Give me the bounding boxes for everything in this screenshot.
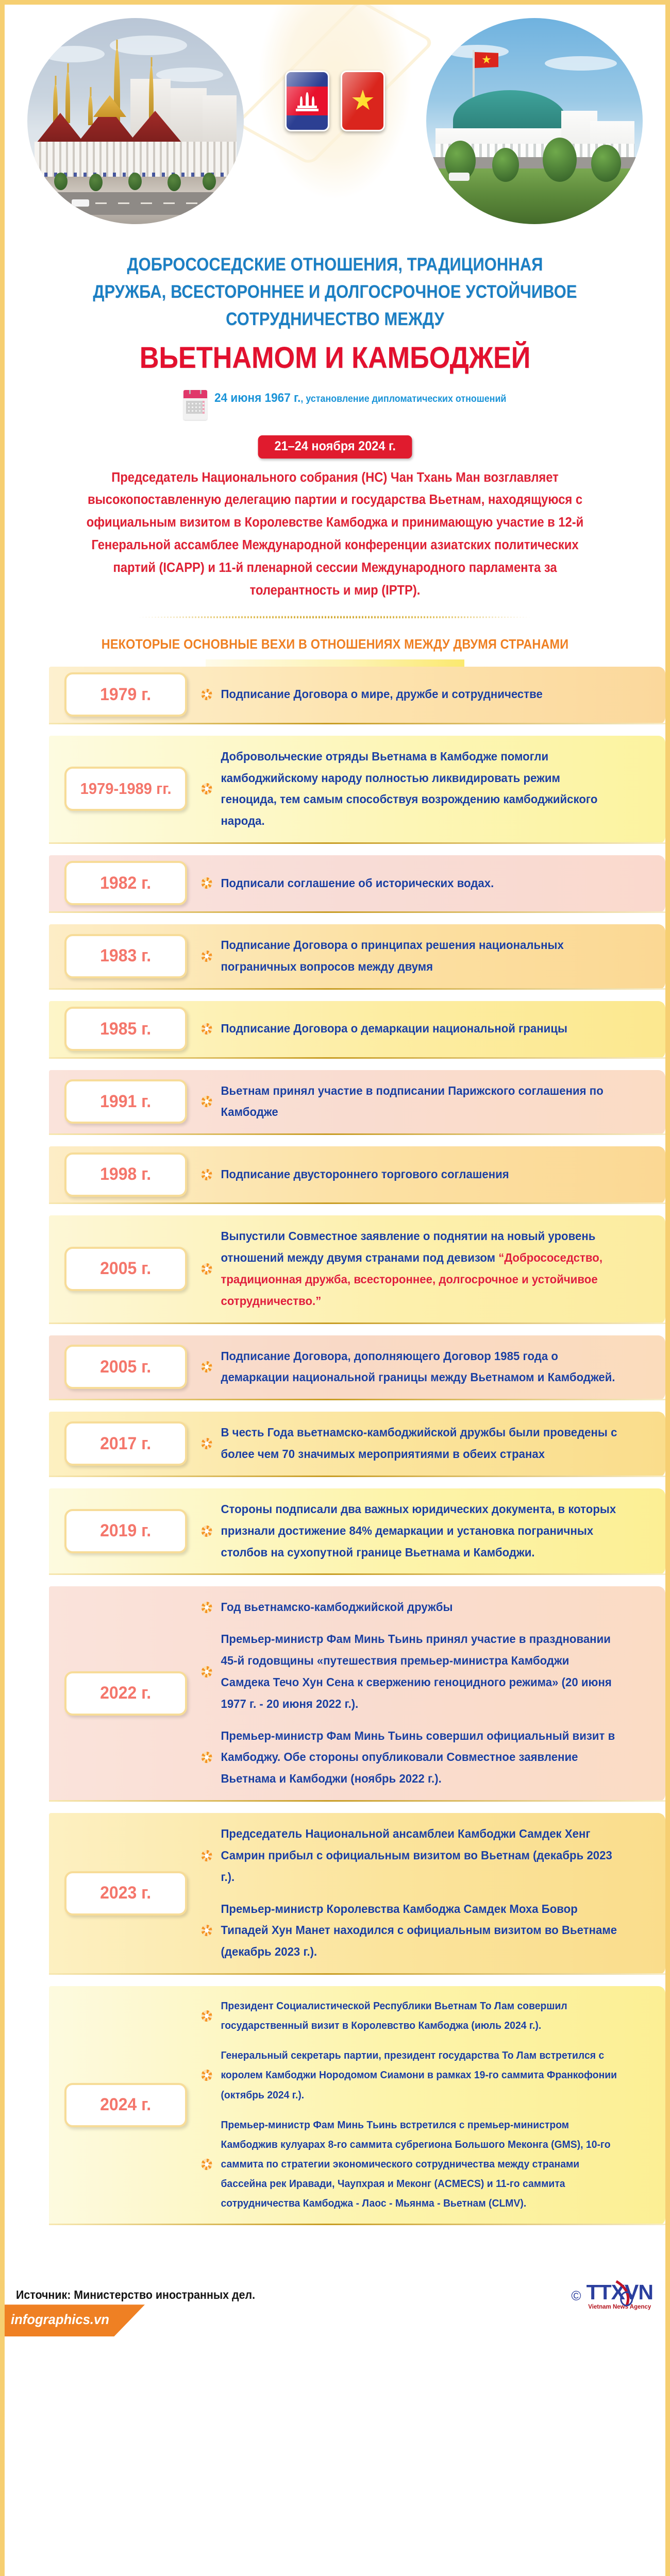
timeline-panel: 2024 г.Президент Социалистической Респуб… bbox=[49, 1986, 665, 2225]
timeline-row: 2017 г.В честь Года вьетнамско-камбоджий… bbox=[5, 1412, 665, 1477]
timeline-year-chip: 2019 г. bbox=[64, 1509, 187, 1553]
dotted-divider bbox=[139, 616, 531, 619]
timeline-year-chip: 1985 г. bbox=[64, 1007, 187, 1051]
bullet-flower-icon bbox=[202, 1925, 212, 1936]
established-date-note: , установление дипломатических отношений bbox=[300, 394, 506, 404]
infographic-page: ★ ДОБРОСОСЕДСКИЕ ОТНОШЕНИЯ, ТРАДИЦИОННАЯ… bbox=[0, 0, 670, 2576]
timeline-panel: 1979 г.Подписание Договора о мире, дружб… bbox=[49, 667, 665, 724]
agency-logo-text: TTXVN bbox=[587, 2282, 653, 2303]
timeline-year-label: 1991 г. bbox=[100, 1092, 152, 1112]
timeline-bullet: Президент Социалистической Республики Вь… bbox=[198, 1996, 618, 2036]
timeline-bullet: Подписание Договора, дополняющего Догово… bbox=[198, 1346, 618, 1389]
timeline-bullet-text: Премьер-министр Королевства Камбоджа Сам… bbox=[221, 1902, 617, 1959]
timeline-year-chip: 2023 г. bbox=[64, 1871, 187, 1916]
timeline-bullet-text: Вьетнам принял участие в подписании Пари… bbox=[221, 1084, 603, 1119]
timeline-row: 1983 г.Подписание Договора о принципах р… bbox=[5, 924, 665, 990]
timeline-bullet-text: Стороны подписали два важных юридических… bbox=[221, 1502, 616, 1559]
timeline-bullet: Председатель Национальной ансамблеи Камб… bbox=[198, 1823, 618, 1888]
timeline-bullet-list: Год вьетнамско-камбоджийской дружбыПремь… bbox=[198, 1597, 643, 1790]
timeline-year-label: 2022 г. bbox=[100, 1683, 152, 1703]
timeline-bullet-list: В честь Года вьетнамско-камбоджийской др… bbox=[198, 1422, 643, 1465]
bullet-flower-icon bbox=[202, 1169, 212, 1180]
timeline-panel: 2005 г.Выпустили Совместное заявление о … bbox=[49, 1215, 665, 1324]
bullet-flower-icon bbox=[202, 1526, 212, 1537]
timeline-panel: 1983 г.Подписание Договора о принципах р… bbox=[49, 924, 665, 990]
timeline-bullet-text: Президент Социалистической Республики Вь… bbox=[221, 2000, 567, 2031]
timeline-row: 2023 г.Председатель Национальной ансамбл… bbox=[5, 1813, 665, 1975]
timeline-bullet: Вьетнам принял участие в подписании Пари… bbox=[198, 1080, 618, 1124]
timeline-bullet-list: Президент Социалистической Республики Вь… bbox=[198, 1996, 643, 2213]
timeline-panel: 2017 г.В честь Года вьетнамско-камбоджий… bbox=[49, 1412, 665, 1477]
timeline-year-chip: 1991 г. bbox=[64, 1079, 187, 1124]
hero-section: ★ bbox=[5, 5, 665, 247]
established-date-text: 24 июня 1967 г., установление дипломатич… bbox=[214, 388, 506, 408]
timeline-row: 1985 г.Подписание Договора о демаркации … bbox=[5, 1001, 665, 1059]
timeline-list: 1979 г.Подписание Договора о мире, дружб… bbox=[5, 667, 665, 2242]
agency-subtitle: Vietnam News Agency bbox=[587, 2304, 653, 2310]
timeline-bullet-list: Добровольческие отряды Вьетнама в Камбод… bbox=[198, 746, 643, 832]
timeline-bullet-list: Подписание двустороннего торгового согла… bbox=[198, 1164, 643, 1185]
timeline-year-label: 1983 г. bbox=[100, 946, 152, 966]
vietnam-flag: ★ bbox=[341, 71, 385, 131]
bullet-flower-icon bbox=[202, 783, 212, 794]
timeline-panel: 1982 г.Подписали соглашение об историчес… bbox=[49, 855, 665, 913]
bullet-flower-icon bbox=[202, 1602, 212, 1613]
timeline-bullet-list: Подписание Договора о мире, дружбе и сот… bbox=[198, 684, 643, 705]
angkor-wat-icon bbox=[295, 91, 319, 111]
timeline-year-chip: 1983 г. bbox=[64, 934, 187, 978]
bullet-flower-icon bbox=[202, 1666, 212, 1677]
timeline-bullet: Премьер-министр Королевства Камбоджа Сам… bbox=[198, 1899, 618, 1963]
flag-badges: ★ bbox=[285, 71, 385, 131]
yellow-star-icon: ★ bbox=[350, 87, 375, 114]
bullet-flower-icon bbox=[202, 1096, 212, 1107]
calendar-icon bbox=[183, 390, 207, 420]
copyright-symbol: © bbox=[571, 2288, 581, 2304]
timeline-row: 1991 г.Вьетнам принял участие в подписан… bbox=[5, 1070, 665, 1136]
timeline-bullet-text: Подписание Договора о демаркации национа… bbox=[221, 1022, 567, 1035]
timeline-year-label: 1979-1989 гг. bbox=[80, 779, 172, 798]
bullet-flower-icon bbox=[202, 1361, 212, 1372]
title-line-2: ДРУЖБА, ВСЕСТОРОННЕЕ И ДОЛГОСРОЧНОЕ УСТО… bbox=[72, 278, 599, 306]
bullet-flower-icon bbox=[202, 1263, 212, 1275]
timeline-panel: 1991 г.Вьетнам принял участие в подписан… bbox=[49, 1070, 665, 1136]
timeline-year-label: 2023 г. bbox=[100, 1883, 152, 1903]
timeline-year-chip: 1979 г. bbox=[64, 672, 187, 717]
timeline-year-chip: 2005 г. bbox=[64, 1247, 187, 1291]
timeline-bullet-text: Премьер-министр Фам Минь Тьинь совершил … bbox=[221, 1729, 615, 1786]
title-line-1: ДОБРОСОСЕДСКИЕ ОТНОШЕНИЯ, ТРАДИЦИОННАЯ bbox=[72, 251, 599, 278]
bullet-flower-icon bbox=[202, 1023, 212, 1035]
timeline-bullet-text: Председатель Национальной ансамблеи Камб… bbox=[221, 1827, 612, 1884]
timeline-year-label: 1979 г. bbox=[100, 685, 152, 705]
timeline-year-label: 2019 г. bbox=[100, 1521, 152, 1541]
timeline-bullet: Год вьетнамско-камбоджийской дружбы bbox=[198, 1597, 618, 1618]
title-line-3: СОТРУДНИЧЕСТВО МЕЖДУ bbox=[72, 306, 599, 333]
timeline-bullet-text: Подписание двустороннего торгового согла… bbox=[221, 1167, 509, 1181]
timeline-panel: 2019 г.Стороны подписали два важных юрид… bbox=[49, 1488, 665, 1575]
timeline-bullet-list: Вьетнам принял участие в подписании Пари… bbox=[198, 1080, 643, 1124]
bullet-flower-icon bbox=[202, 2010, 212, 2022]
timeline-bullet-list: Стороны подписали два важных юридических… bbox=[198, 1499, 643, 1563]
vietnam-national-assembly-photo bbox=[426, 18, 643, 224]
visit-banner: 21–24 ноября 2024 г. Председатель Национ… bbox=[5, 435, 665, 602]
established-date-value: 24 июня 1967 г. bbox=[214, 391, 300, 405]
timeline-bullet: Премьер-министр Фам Минь Тьинь совершил … bbox=[198, 1725, 618, 1790]
timeline-year-chip: 1979-1989 гг. bbox=[64, 767, 187, 811]
timeline-year-chip: 2005 г. bbox=[64, 1345, 187, 1389]
timeline-bullet-list: Выпустили Совместное заявление о подняти… bbox=[198, 1226, 643, 1312]
timeline-row: 2024 г.Президент Социалистической Респуб… bbox=[5, 1986, 665, 2225]
timeline-bullet: В честь Года вьетнамско-камбоджийской др… bbox=[198, 1422, 618, 1465]
bullet-flower-icon bbox=[202, 1438, 212, 1449]
timeline-year-chip: 2024 г. bbox=[64, 2083, 187, 2127]
timeline-bullet: Добровольческие отряды Вьетнама в Камбод… bbox=[198, 746, 618, 832]
timeline-bullet: Генеральный секретарь партии, президент … bbox=[198, 2046, 618, 2105]
cambodia-national-assembly-photo bbox=[27, 18, 244, 224]
timeline-bullet: Подписание Договора о демаркации национа… bbox=[198, 1018, 618, 1040]
timeline-bullet-text: Подписание Договора о принципах решения … bbox=[221, 938, 563, 973]
timeline-bullet-list: Подписание Договора, дополняющего Догово… bbox=[198, 1346, 643, 1389]
timeline-panel: 2022 г.Год вьетнамско-камбоджийской друж… bbox=[49, 1586, 665, 1802]
timeline-year-label: 2005 г. bbox=[100, 1259, 152, 1279]
timeline-row: 2005 г.Подписание Договора, дополняющего… bbox=[5, 1335, 665, 1401]
page-title: ДОБРОСОСЕДСКИЕ ОТНОШЕНИЯ, ТРАДИЦИОННАЯ Д… bbox=[5, 247, 665, 375]
visit-date-badge: 21–24 ноября 2024 г. bbox=[258, 435, 412, 459]
timeline-panel: 2005 г.Подписание Договора, дополняющего… bbox=[49, 1335, 665, 1401]
timeline-bullet: Выпустили Совместное заявление о подняти… bbox=[198, 1226, 618, 1312]
timeline-bullet: Подписали соглашение об исторических вод… bbox=[198, 873, 618, 894]
title-countries: ВЬЕТНАМОМ И КАМБОДЖЕЙ bbox=[65, 342, 605, 375]
source-text: Источник: Министерство иностранных дел. bbox=[16, 2288, 255, 2302]
timeline-panel: 2023 г.Председатель Национальной ансамбл… bbox=[49, 1813, 665, 1975]
timeline-bullet-text: Подписание Договора о мире, дружбе и сот… bbox=[221, 687, 542, 701]
timeline-bullet-list: Подписание Договора о принципах решения … bbox=[198, 935, 643, 978]
bullet-flower-icon bbox=[202, 2070, 212, 2081]
timeline-row: 1979 г.Подписание Договора о мире, дружб… bbox=[5, 667, 665, 724]
cambodia-flag bbox=[285, 71, 329, 131]
timeline-bullet-list: Подписали соглашение об исторических вод… bbox=[198, 873, 643, 894]
established-date-row: 24 июня 1967 г., установление дипломатич… bbox=[139, 388, 531, 420]
site-brand-label: infographics.vn bbox=[11, 2312, 109, 2328]
bullet-flower-icon bbox=[202, 1752, 212, 1763]
bullet-flower-icon bbox=[202, 951, 212, 962]
timeline-bullet-text: Премьер-министр Фам Минь Тьинь принял уч… bbox=[221, 1632, 611, 1710]
decorative-top-tab bbox=[206, 659, 464, 667]
timeline-bullet-list: Подписание Договора о демаркации национа… bbox=[198, 1018, 643, 1040]
timeline-bullet: Премьер-министр Фам Минь Тьинь принял уч… bbox=[198, 1629, 618, 1715]
timeline-year-chip: 1982 г. bbox=[64, 861, 187, 905]
timeline-year-label: 1982 г. bbox=[100, 873, 152, 893]
timeline-year-chip: 1998 г. bbox=[64, 1153, 187, 1197]
timeline-row: 2022 г.Год вьетнамско-камбоджийской друж… bbox=[5, 1586, 665, 1802]
timeline-panel: 1998 г.Подписание двустороннего торговог… bbox=[49, 1146, 665, 1204]
timeline-bullet: Подписание двустороннего торгового согла… bbox=[198, 1164, 618, 1185]
timeline-year-label: 2024 г. bbox=[100, 2095, 152, 2115]
timeline-bullet-text: Премьер-министр Фам Минь Тьинь встретилс… bbox=[221, 2119, 610, 2210]
bullet-flower-icon bbox=[202, 1850, 212, 1861]
timeline-bullet-text: Год вьетнамско-камбоджийской дружбы bbox=[221, 1600, 453, 1614]
timeline-bullet: Премьер-министр Фам Минь Тьинь встретилс… bbox=[198, 2115, 618, 2214]
timeline-bullet-text: Подписали соглашение об исторических вод… bbox=[221, 876, 494, 890]
timeline-panel: 1979-1989 гг.Добровольческие отряды Вьет… bbox=[49, 736, 665, 844]
timeline-bullet-text: Генеральный секретарь партии, президент … bbox=[221, 2049, 617, 2100]
timeline-bullet-text: Подписание Договора, дополняющего Догово… bbox=[221, 1349, 615, 1384]
timeline-bullet-list: Председатель Национальной ансамблеи Камб… bbox=[198, 1823, 643, 1963]
timeline-row: 1979-1989 гг.Добровольческие отряды Вьет… bbox=[5, 736, 665, 844]
timeline-row: 2005 г.Выпустили Совместное заявление о … bbox=[5, 1215, 665, 1324]
bullet-flower-icon bbox=[202, 877, 212, 889]
timeline-year-label: 1985 г. bbox=[100, 1019, 152, 1039]
timeline-bullet: Подписание Договора о мире, дружбе и сот… bbox=[198, 684, 618, 705]
timeline-year-label: 1998 г. bbox=[100, 1164, 152, 1184]
timeline-bullet-text: В честь Года вьетнамско-камбоджийской др… bbox=[221, 1426, 617, 1461]
timeline-row: 2019 г.Стороны подписали два важных юрид… bbox=[5, 1488, 665, 1575]
timeline-year-label: 2017 г. bbox=[100, 1434, 152, 1454]
bullet-flower-icon bbox=[202, 689, 212, 700]
footer: Источник: Министерство иностранных дел. … bbox=[5, 2264, 665, 2336]
agency-logo: © TTXVN Vietnam News Agency bbox=[571, 2282, 653, 2310]
timeline-year-label: 2005 г. bbox=[100, 1357, 152, 1377]
timeline-year-chip: 2017 г. bbox=[64, 1421, 187, 1466]
timeline-bullet: Стороны подписали два важных юридических… bbox=[198, 1499, 618, 1563]
timeline-bullet-text: Добровольческие отряды Вьетнама в Камбод… bbox=[221, 750, 597, 827]
timeline-row: 1982 г.Подписали соглашение об историчес… bbox=[5, 855, 665, 913]
timeline-panel: 1985 г.Подписание Договора о демаркации … bbox=[49, 1001, 665, 1059]
bullet-flower-icon bbox=[202, 2159, 212, 2170]
section-heading: НЕКОТОРЫЕ ОСНОВНЫЕ ВЕХИ В ОТНОШЕНИЯХ МЕЖ… bbox=[38, 636, 632, 652]
timeline-bullet: Подписание Договора о принципах решения … bbox=[198, 935, 618, 978]
visit-description: Председатель Национального собрания (НС)… bbox=[69, 467, 601, 602]
site-brand-bar: infographics.vn bbox=[5, 2304, 145, 2336]
timeline-row: 1998 г.Подписание двустороннего торговог… bbox=[5, 1146, 665, 1204]
timeline-year-chip: 2022 г. bbox=[64, 1671, 187, 1716]
